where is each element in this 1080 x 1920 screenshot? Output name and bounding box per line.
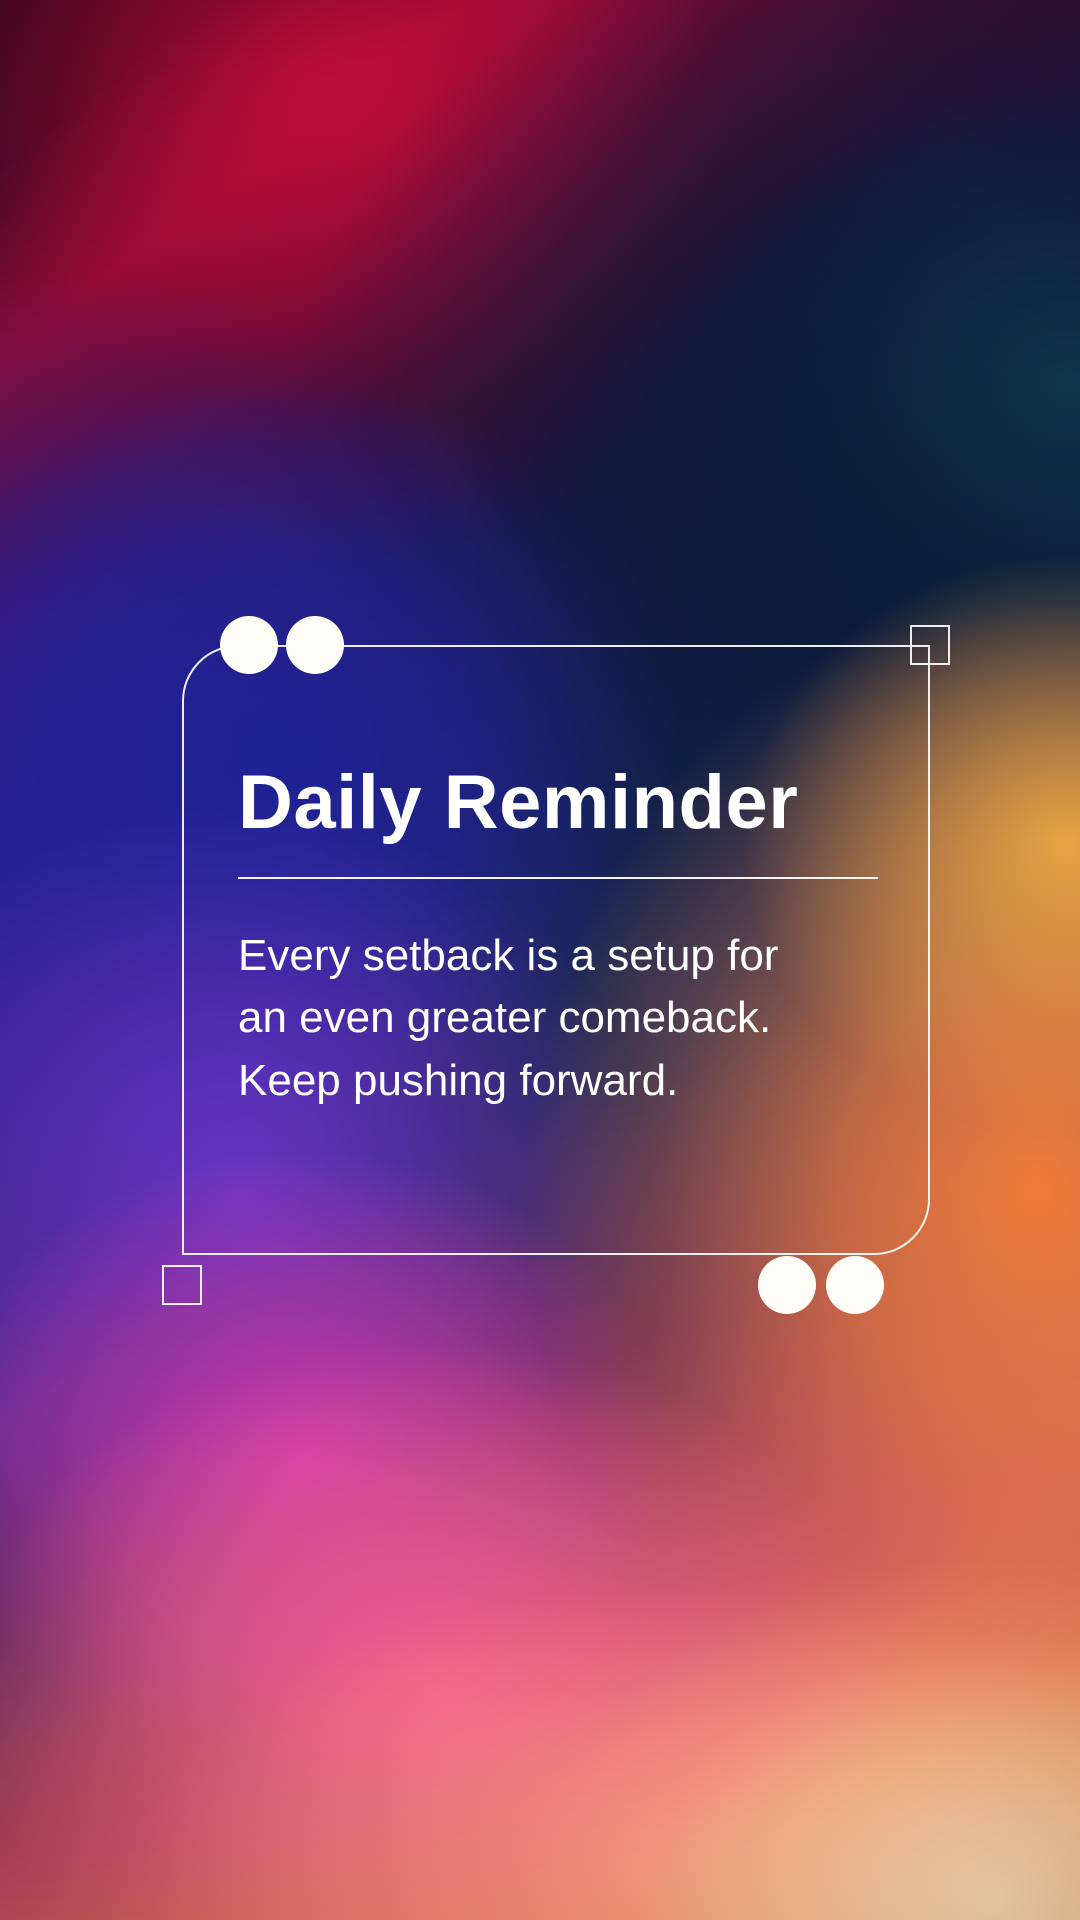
quote-title: Daily Reminder bbox=[238, 763, 840, 843]
deco-dot-bottom-right-a bbox=[758, 1256, 816, 1314]
poster-canvas: Daily Reminder Every setback is a setup … bbox=[0, 0, 1080, 1920]
deco-dot-top-left-b bbox=[286, 616, 344, 674]
corner-square-bottom-left-icon bbox=[162, 1265, 202, 1305]
deco-dot-top-left-a bbox=[220, 616, 278, 674]
quote-body-text: Every setback is a setup for an even gre… bbox=[238, 925, 840, 1112]
card-content: Daily Reminder Every setback is a setup … bbox=[238, 763, 840, 1112]
title-divider bbox=[238, 877, 878, 879]
corner-square-top-right-icon bbox=[910, 625, 950, 665]
deco-dot-bottom-right-b bbox=[826, 1256, 884, 1314]
quote-card: Daily Reminder Every setback is a setup … bbox=[152, 645, 930, 1285]
